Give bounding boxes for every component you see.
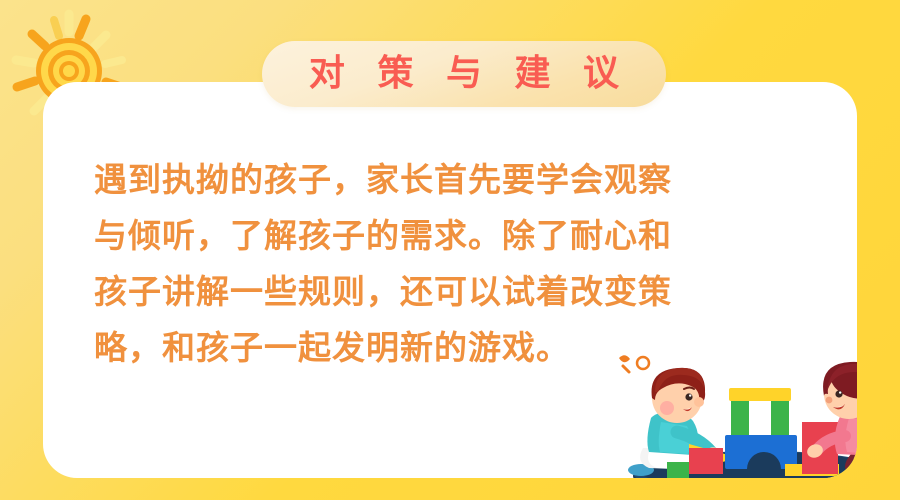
body-line: 遇到执拗的孩子，家长首先要学会观察 — [94, 152, 810, 208]
poster-canvas: 遇到执拗的孩子，家长首先要学会观察 与倾听，了解孩子的需求。除了耐心和 孩子讲解… — [0, 0, 900, 500]
girl-figure — [802, 362, 857, 478]
play-mat — [633, 452, 857, 478]
body-line: 孩子讲解一些规则，还可以试着改变策 — [94, 264, 810, 320]
body-line: 与倾听，了解孩子的需求。除了耐心和 — [94, 208, 810, 264]
page-title: 对 策 与 建 议 — [299, 56, 629, 92]
red-square-block — [689, 448, 723, 474]
block-structure — [667, 388, 839, 478]
blue-arch-base — [725, 435, 797, 469]
yellow-top-bar — [729, 388, 791, 401]
boy-figure — [628, 368, 739, 476]
green-column-right — [771, 401, 789, 435]
green-column-left — [731, 401, 749, 435]
body-line: 略，和孩子一起发明新的游戏。 — [94, 320, 810, 376]
yellow-triangle-block — [689, 444, 739, 470]
content-card: 遇到执拗的孩子，家长首先要学会观察 与倾听，了解孩子的需求。除了耐心和 孩子讲解… — [43, 82, 857, 478]
title-pill: 对 策 与 建 议 — [262, 41, 666, 107]
red-tall-block — [802, 422, 838, 474]
body-paragraph: 遇到执拗的孩子，家长首先要学会观察 与倾听，了解孩子的需求。除了耐心和 孩子讲解… — [94, 152, 810, 376]
yellow-flat-bar — [785, 464, 839, 476]
green-small-cube — [667, 462, 689, 478]
blue-arch-opening — [747, 452, 781, 469]
